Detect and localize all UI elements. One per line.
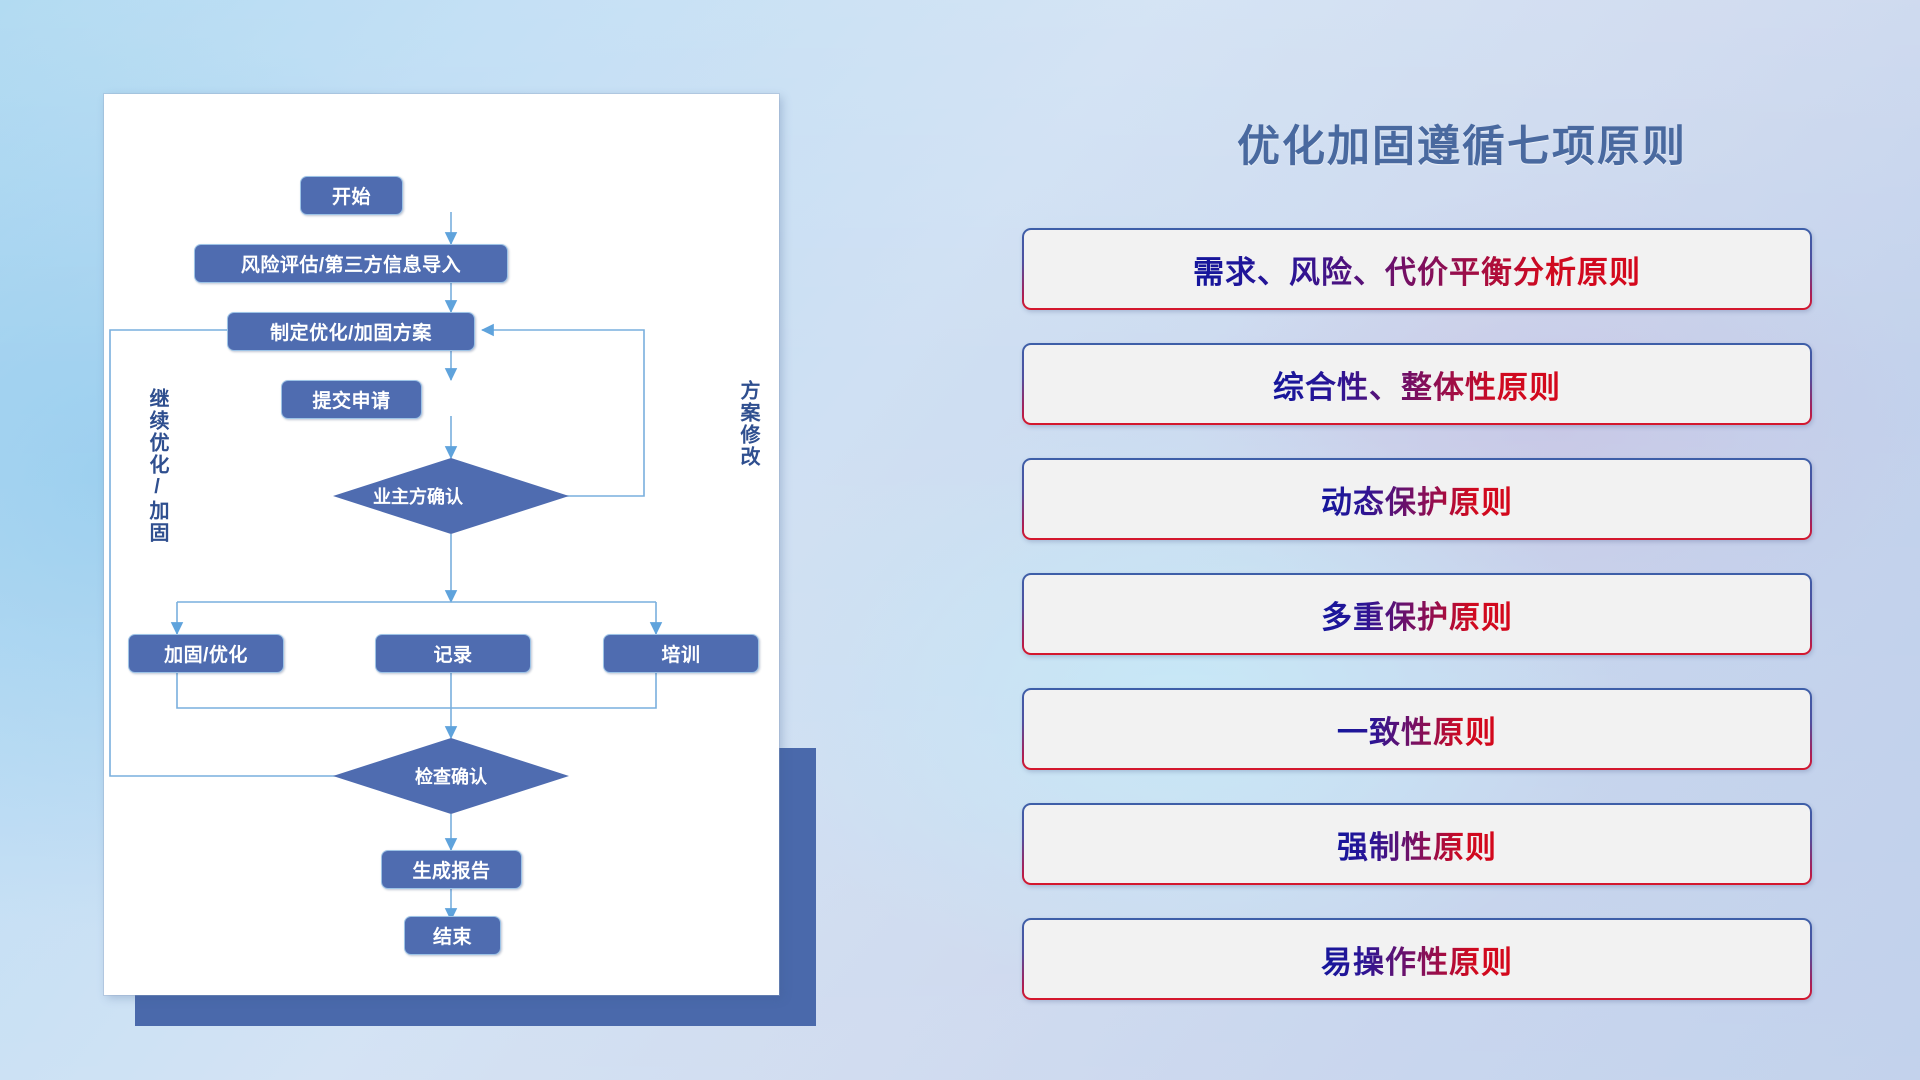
edge-label-continue-optimize: 继续优化/加固 — [143, 388, 172, 544]
principle-item-4[interactable]: 多重保护原则 — [1022, 573, 1812, 655]
flow-node-check-confirm[interactable]: 检查确认 — [366, 757, 536, 794]
flow-node-plan[interactable]: 制定优化/加固方案 — [227, 312, 475, 351]
flow-node-owner-confirm-label: 业主方确认 — [373, 483, 463, 509]
principle-item-3[interactable]: 动态保护原则 — [1022, 458, 1812, 540]
flow-node-check-confirm-label: 检查确认 — [415, 763, 487, 789]
principle-item-2-inner: 综合性、整体性原则 — [1024, 345, 1810, 423]
flow-node-end-label: 结束 — [433, 922, 472, 949]
flow-node-risk-assessment[interactable]: 风险评估/第三方信息导入 — [194, 244, 508, 283]
flow-node-risk-assessment-label: 风险评估/第三方信息导入 — [241, 250, 461, 277]
accent-bar-bottom — [135, 995, 816, 1026]
edge-label-plan-revision: 方案修改 — [734, 380, 763, 468]
principle-item-5-label: 一致性原则 — [1337, 707, 1497, 752]
principle-item-1-label: 需求、风险、代价平衡分析原则 — [1193, 247, 1641, 292]
principle-item-6-label: 强制性原则 — [1337, 822, 1497, 867]
flow-node-owner-confirm[interactable]: 业主方确认 — [333, 477, 503, 514]
flow-node-start[interactable]: 开始 — [300, 176, 403, 215]
flow-node-plan-label: 制定优化/加固方案 — [270, 318, 432, 345]
principle-item-6-inner: 强制性原则 — [1024, 805, 1810, 883]
flow-node-record-label: 记录 — [433, 640, 472, 667]
flow-node-training-label: 培训 — [661, 640, 700, 667]
principle-item-7[interactable]: 易操作性原则 — [1022, 918, 1812, 1000]
principles-list: 需求、风险、代价平衡分析原则 综合性、整体性原则 动态保护原则 多重保护原则 一… — [1022, 228, 1812, 1033]
principle-item-1-inner: 需求、风险、代价平衡分析原则 — [1024, 230, 1810, 308]
principle-item-5-inner: 一致性原则 — [1024, 690, 1810, 768]
principle-item-3-inner: 动态保护原则 — [1024, 460, 1810, 538]
principle-item-5[interactable]: 一致性原则 — [1022, 688, 1812, 770]
flow-node-reinforce[interactable]: 加固/优化 — [128, 634, 284, 673]
flow-node-submit[interactable]: 提交申请 — [281, 380, 422, 419]
flow-node-report[interactable]: 生成报告 — [381, 850, 522, 889]
flow-node-report-label: 生成报告 — [412, 856, 490, 883]
flow-node-start-label: 开始 — [332, 182, 371, 209]
principle-item-4-label: 多重保护原则 — [1321, 592, 1513, 637]
principle-item-7-label: 易操作性原则 — [1321, 937, 1513, 982]
principle-item-2[interactable]: 综合性、整体性原则 — [1022, 343, 1812, 425]
principle-item-7-inner: 易操作性原则 — [1024, 920, 1810, 998]
principle-item-4-inner: 多重保护原则 — [1024, 575, 1810, 653]
principle-item-1[interactable]: 需求、风险、代价平衡分析原则 — [1022, 228, 1812, 310]
principle-item-2-label: 综合性、整体性原则 — [1273, 362, 1561, 407]
principle-item-3-label: 动态保护原则 — [1321, 477, 1513, 522]
flow-node-record[interactable]: 记录 — [375, 634, 531, 673]
principle-item-6[interactable]: 强制性原则 — [1022, 803, 1812, 885]
flow-node-end[interactable]: 结束 — [404, 916, 501, 955]
flow-node-reinforce-label: 加固/优化 — [164, 640, 248, 667]
flow-node-submit-label: 提交申请 — [312, 386, 390, 413]
flow-node-training[interactable]: 培训 — [603, 634, 759, 673]
page-title: 优化加固遵循七项原则 — [1152, 112, 1772, 174]
